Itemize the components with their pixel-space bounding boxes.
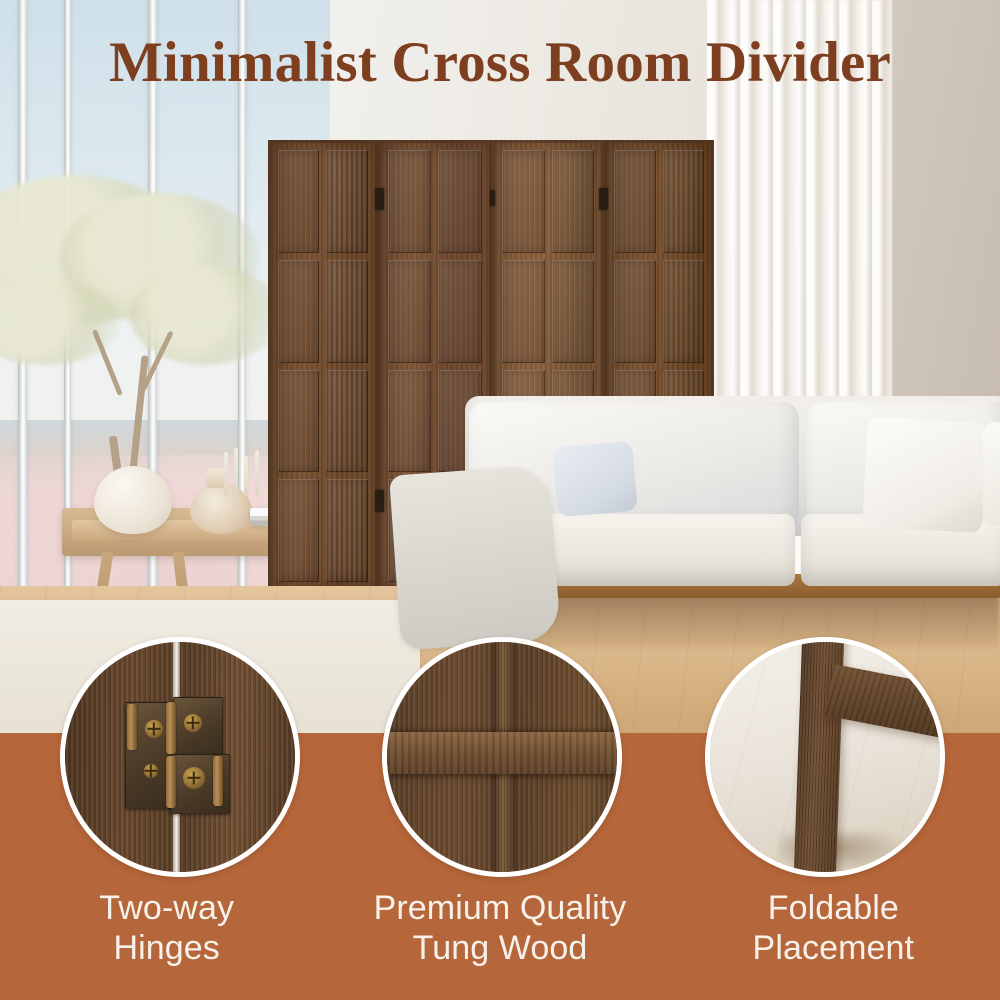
feature-label: Two-way Hinges <box>0 888 333 968</box>
reed-stick <box>255 450 259 496</box>
panel-inset <box>326 479 367 582</box>
panel-inset <box>502 260 545 363</box>
divider-hinge-icon <box>490 190 495 206</box>
divider-panel <box>268 140 378 592</box>
product-marketing-image: Minimalist Cross Room Divider Two-way <box>0 0 1000 1000</box>
reed-stick <box>234 448 238 496</box>
feature-tung-wood: Premium Quality Tung Wood <box>333 733 666 1000</box>
round-vase <box>94 466 172 534</box>
feature-label-line1: Two-way <box>0 888 333 928</box>
throw-blanket <box>389 465 561 651</box>
panel-inset <box>326 260 367 363</box>
throw-pillow <box>983 422 1000 526</box>
panel-inset <box>552 260 595 363</box>
divider-hinge-icon <box>375 490 384 512</box>
reed-stick <box>244 456 248 496</box>
feature-label-line1: Premium Quality <box>333 888 666 928</box>
hinge-screw-icon <box>184 714 202 732</box>
reed-sticks <box>222 448 270 494</box>
feature-two-way-hinges: Two-way Hinges <box>0 733 333 1000</box>
panel-inset <box>278 260 319 363</box>
panel-inset <box>388 370 432 473</box>
panel-inset <box>438 260 482 363</box>
feature-label: Premium Quality Tung Wood <box>333 888 666 968</box>
feature-label: Foldable Placement <box>667 888 1000 968</box>
page-title: Minimalist Cross Room Divider <box>0 34 1000 91</box>
feature-label-line2: Tung Wood <box>333 928 666 968</box>
tree-canopy <box>130 265 280 365</box>
panel-inset <box>614 150 655 253</box>
divider-hinge-icon <box>375 188 384 210</box>
panel-inset <box>502 150 545 253</box>
divider-hinge-icon <box>599 188 608 210</box>
panel-inset <box>438 150 482 253</box>
panel-inset <box>614 260 655 363</box>
panel-inset <box>278 370 319 473</box>
panel-inset <box>326 150 367 253</box>
feature-label-line2: Placement <box>667 928 1000 968</box>
panel-inset <box>278 150 319 253</box>
feature-list: Two-way Hinges Premium Quality Tung Wood… <box>0 733 1000 1000</box>
panel-inset <box>388 260 432 363</box>
throw-pillow <box>862 417 988 533</box>
feature-foldable-placement: Foldable Placement <box>667 733 1000 1000</box>
sofa <box>455 392 1000 622</box>
panel-inset <box>388 150 432 253</box>
panel-inset <box>663 260 704 363</box>
feature-label-line1: Foldable <box>667 888 1000 928</box>
throw-pillow <box>552 441 638 518</box>
feature-label-line2: Hinges <box>0 928 333 968</box>
panel-inset <box>278 479 319 582</box>
panel-inset-grid <box>278 150 368 582</box>
reed-stick <box>224 452 228 496</box>
panel-inset <box>663 150 704 253</box>
panel-inset <box>552 150 595 253</box>
panel-inset <box>326 370 367 473</box>
